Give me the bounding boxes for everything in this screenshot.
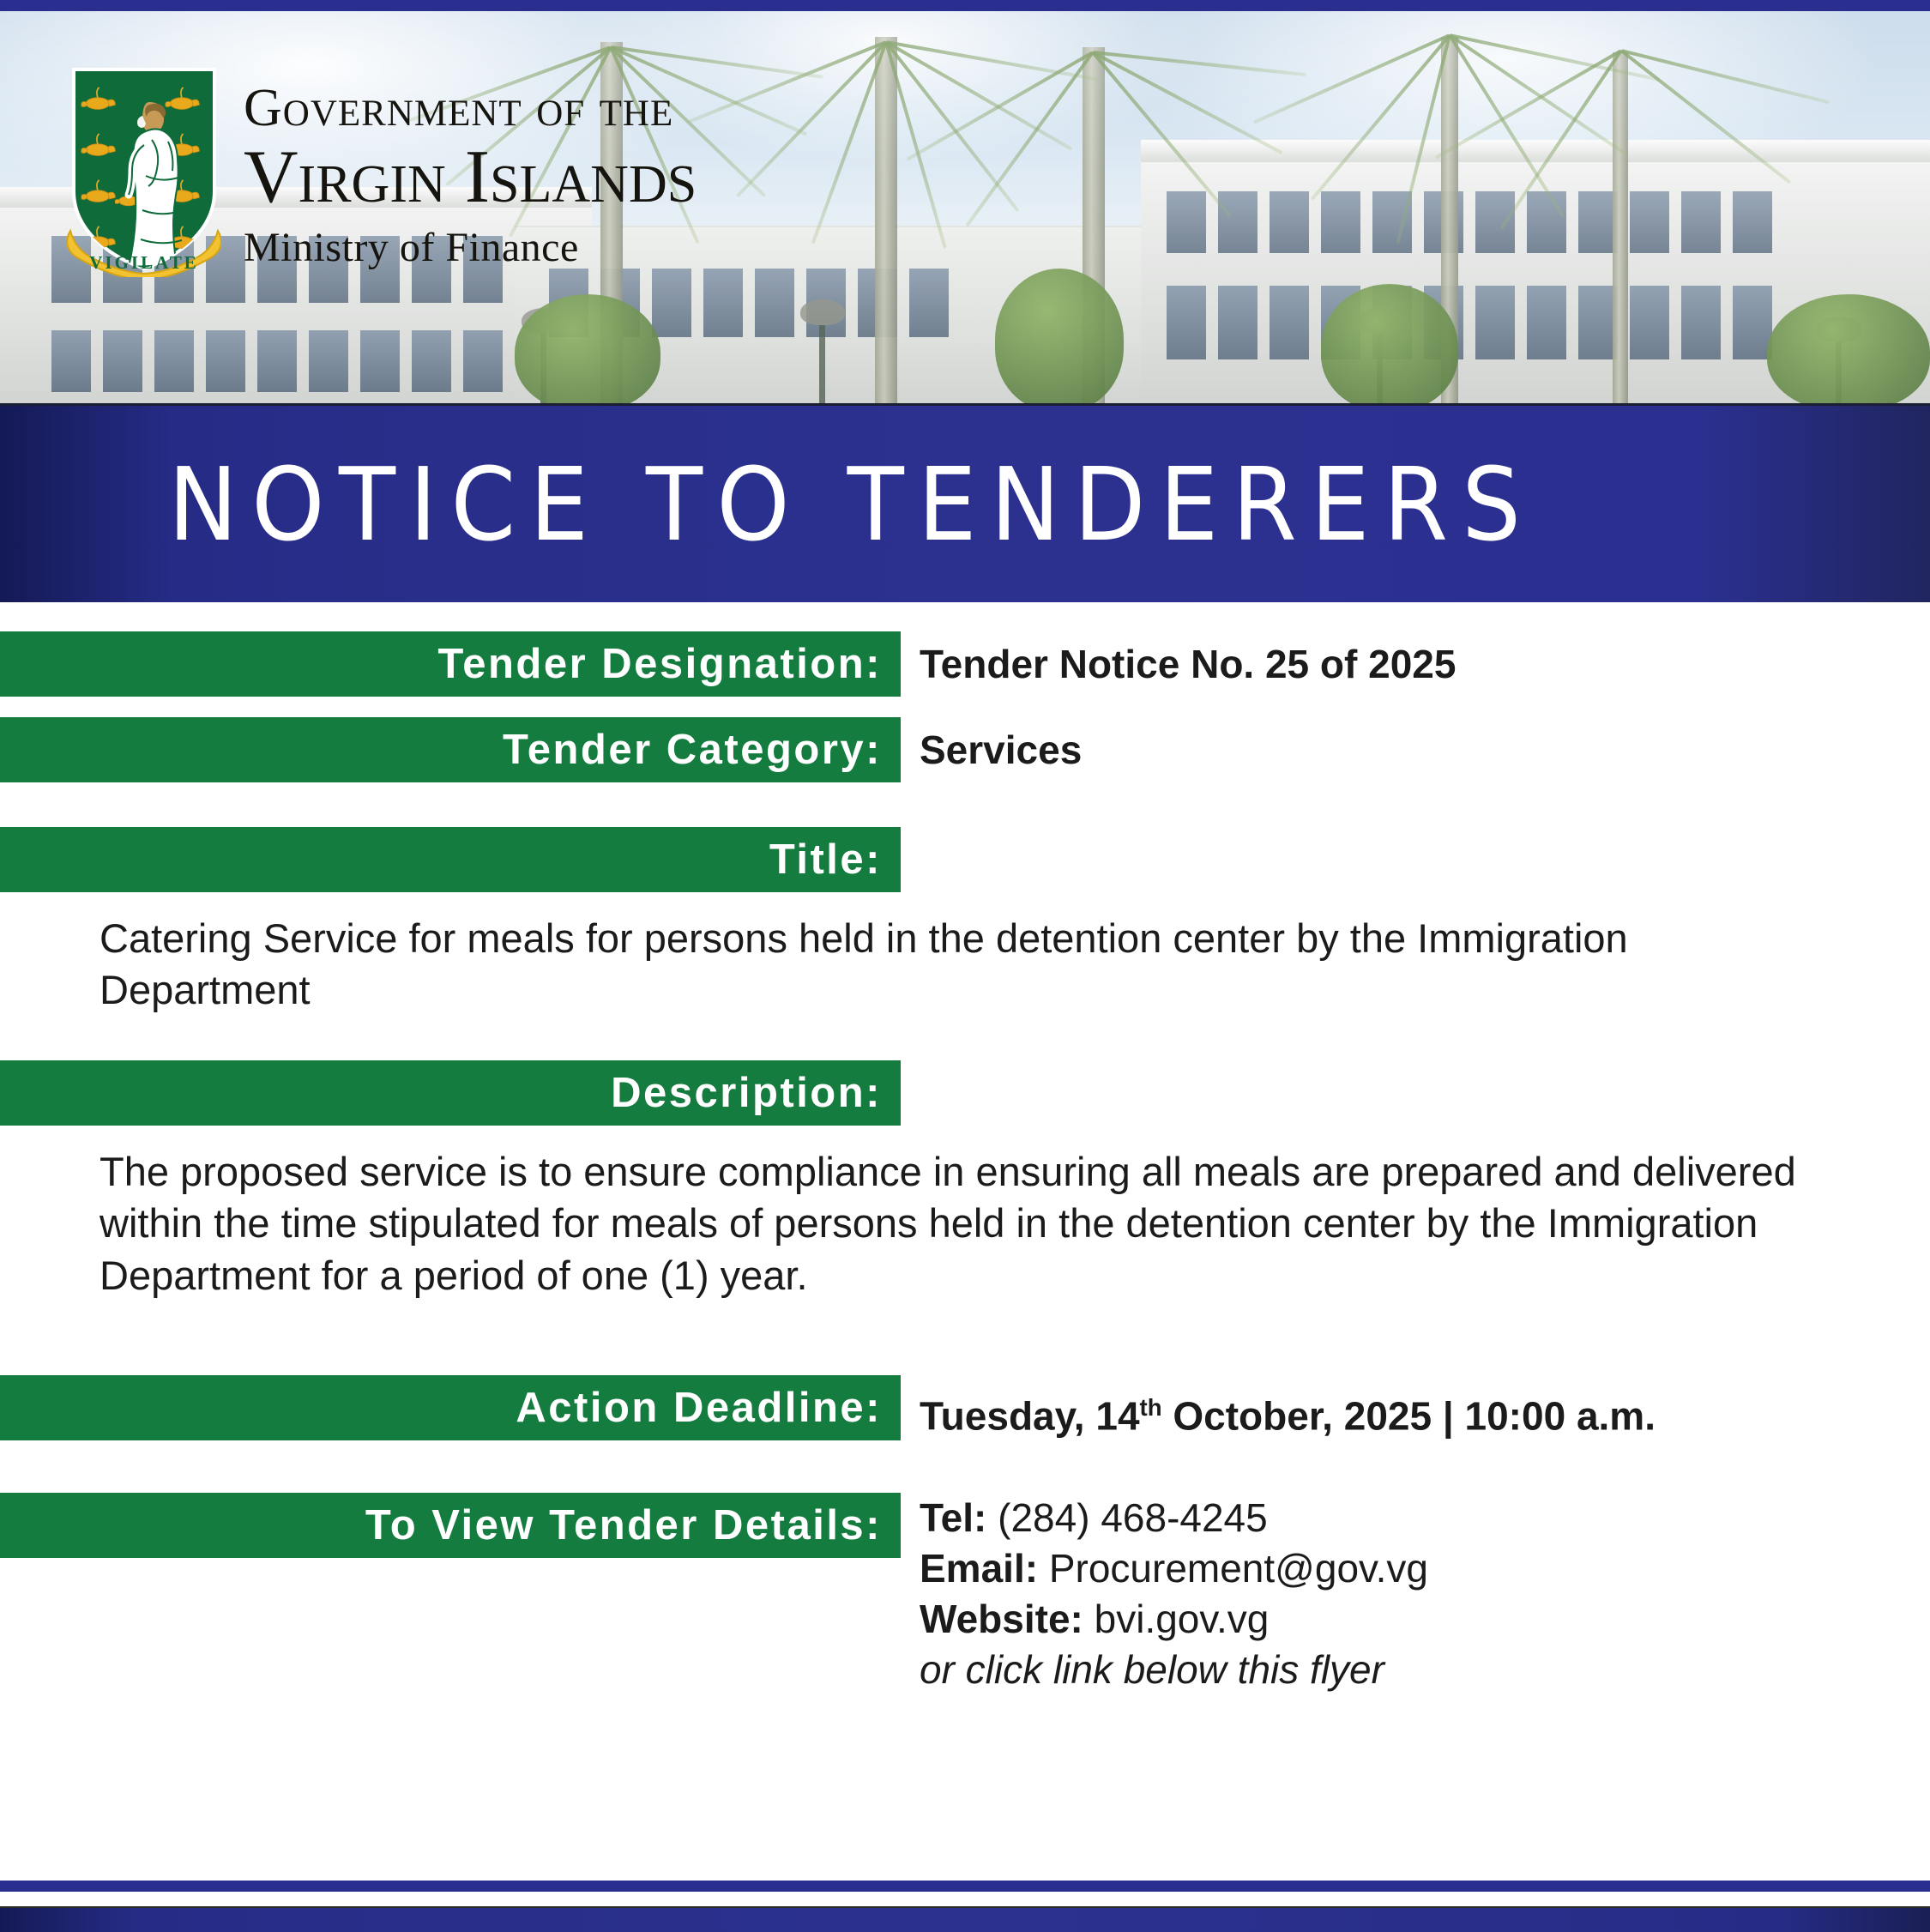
- contact-website-value[interactable]: bvi.gov.vg: [1095, 1597, 1270, 1641]
- contact-tel-label: Tel:: [920, 1495, 986, 1540]
- header-photo-band: VIGILATE Government of the Virgin Island…: [0, 11, 1930, 403]
- crest-motto-text: VIGILATE: [89, 252, 198, 273]
- contact-tel-value[interactable]: (284) 468-4245: [998, 1495, 1268, 1540]
- contact-note: or click link below this flyer: [920, 1645, 1428, 1695]
- notice-body: Tender Designation: Tender Notice No. 25…: [0, 602, 1930, 1695]
- footer-accent-rule: [0, 1881, 1930, 1892]
- shrub: [995, 269, 1124, 403]
- contact-email-value[interactable]: Procurement@gov.vg: [1049, 1546, 1428, 1591]
- deadline-rest: October, 2025 | 10:00 a.m.: [1162, 1393, 1656, 1438]
- label-description: Description:: [0, 1060, 901, 1126]
- field-row-details: To View Tender Details: Tel: (284) 468-4…: [0, 1493, 1930, 1695]
- window-row: [51, 330, 503, 392]
- top-accent-rule: [0, 0, 1930, 11]
- contact-website-label: Website:: [920, 1597, 1083, 1641]
- field-row-category: Tender Category: Services: [0, 717, 1930, 782]
- label-view-tender-details: To View Tender Details:: [0, 1493, 901, 1558]
- value-description: The proposed service is to ensure compli…: [0, 1146, 1927, 1301]
- shrub: [1321, 284, 1458, 403]
- wordmark-line-3: Ministry of Finance: [244, 227, 697, 269]
- field-row-designation: Tender Designation: Tender Notice No. 25…: [0, 631, 1930, 697]
- wordmark: Government of the Virgin Islands Ministr…: [244, 63, 697, 269]
- label-tender-category: Tender Category:: [0, 717, 901, 782]
- palm-trunk: [1613, 52, 1628, 403]
- field-row-title: Title:: [0, 827, 1930, 892]
- wordmark-line-2: Virgin Islands: [244, 140, 697, 215]
- field-row-deadline: Action Deadline: Tuesday, 14th October, …: [0, 1375, 1930, 1448]
- value-tender-category: Services: [901, 717, 1082, 782]
- shrub: [515, 294, 660, 403]
- coat-of-arms-icon: VIGILATE: [67, 63, 221, 277]
- footer-bar: [0, 1906, 1930, 1932]
- wordmark-line-1: Government of the: [244, 82, 697, 135]
- banner-title: NOTICE TO TENDERERS: [168, 445, 1535, 564]
- contact-block: Tel: (284) 468-4245 Email: Procurement@g…: [901, 1493, 1428, 1695]
- lamp-post: [819, 322, 825, 403]
- notice-banner: NOTICE TO TENDERERS: [0, 403, 1930, 602]
- contact-website: Website: bvi.gov.vg: [920, 1594, 1428, 1645]
- value-title: Catering Service for meals for persons h…: [0, 913, 1927, 1016]
- label-action-deadline: Action Deadline:: [0, 1375, 901, 1440]
- field-row-description: Description:: [0, 1060, 1930, 1126]
- label-title: Title:: [0, 827, 901, 892]
- window-row: [1167, 191, 1772, 253]
- label-tender-designation: Tender Designation:: [0, 631, 901, 697]
- palm-trunk: [875, 37, 897, 403]
- contact-email-label: Email:: [920, 1546, 1038, 1591]
- contact-tel: Tel: (284) 468-4245: [920, 1493, 1428, 1543]
- government-branding: VIGILATE Government of the Virgin Island…: [67, 63, 697, 277]
- deadline-ordinal: th: [1140, 1394, 1162, 1421]
- contact-email: Email: Procurement@gov.vg: [920, 1543, 1428, 1594]
- value-action-deadline: Tuesday, 14th October, 2025 | 10:00 a.m.: [901, 1375, 1656, 1448]
- deadline-day: Tuesday, 14: [920, 1393, 1140, 1438]
- shrub: [1767, 294, 1930, 403]
- value-tender-designation: Tender Notice No. 25 of 2025: [901, 631, 1456, 697]
- window-row: [1167, 286, 1772, 359]
